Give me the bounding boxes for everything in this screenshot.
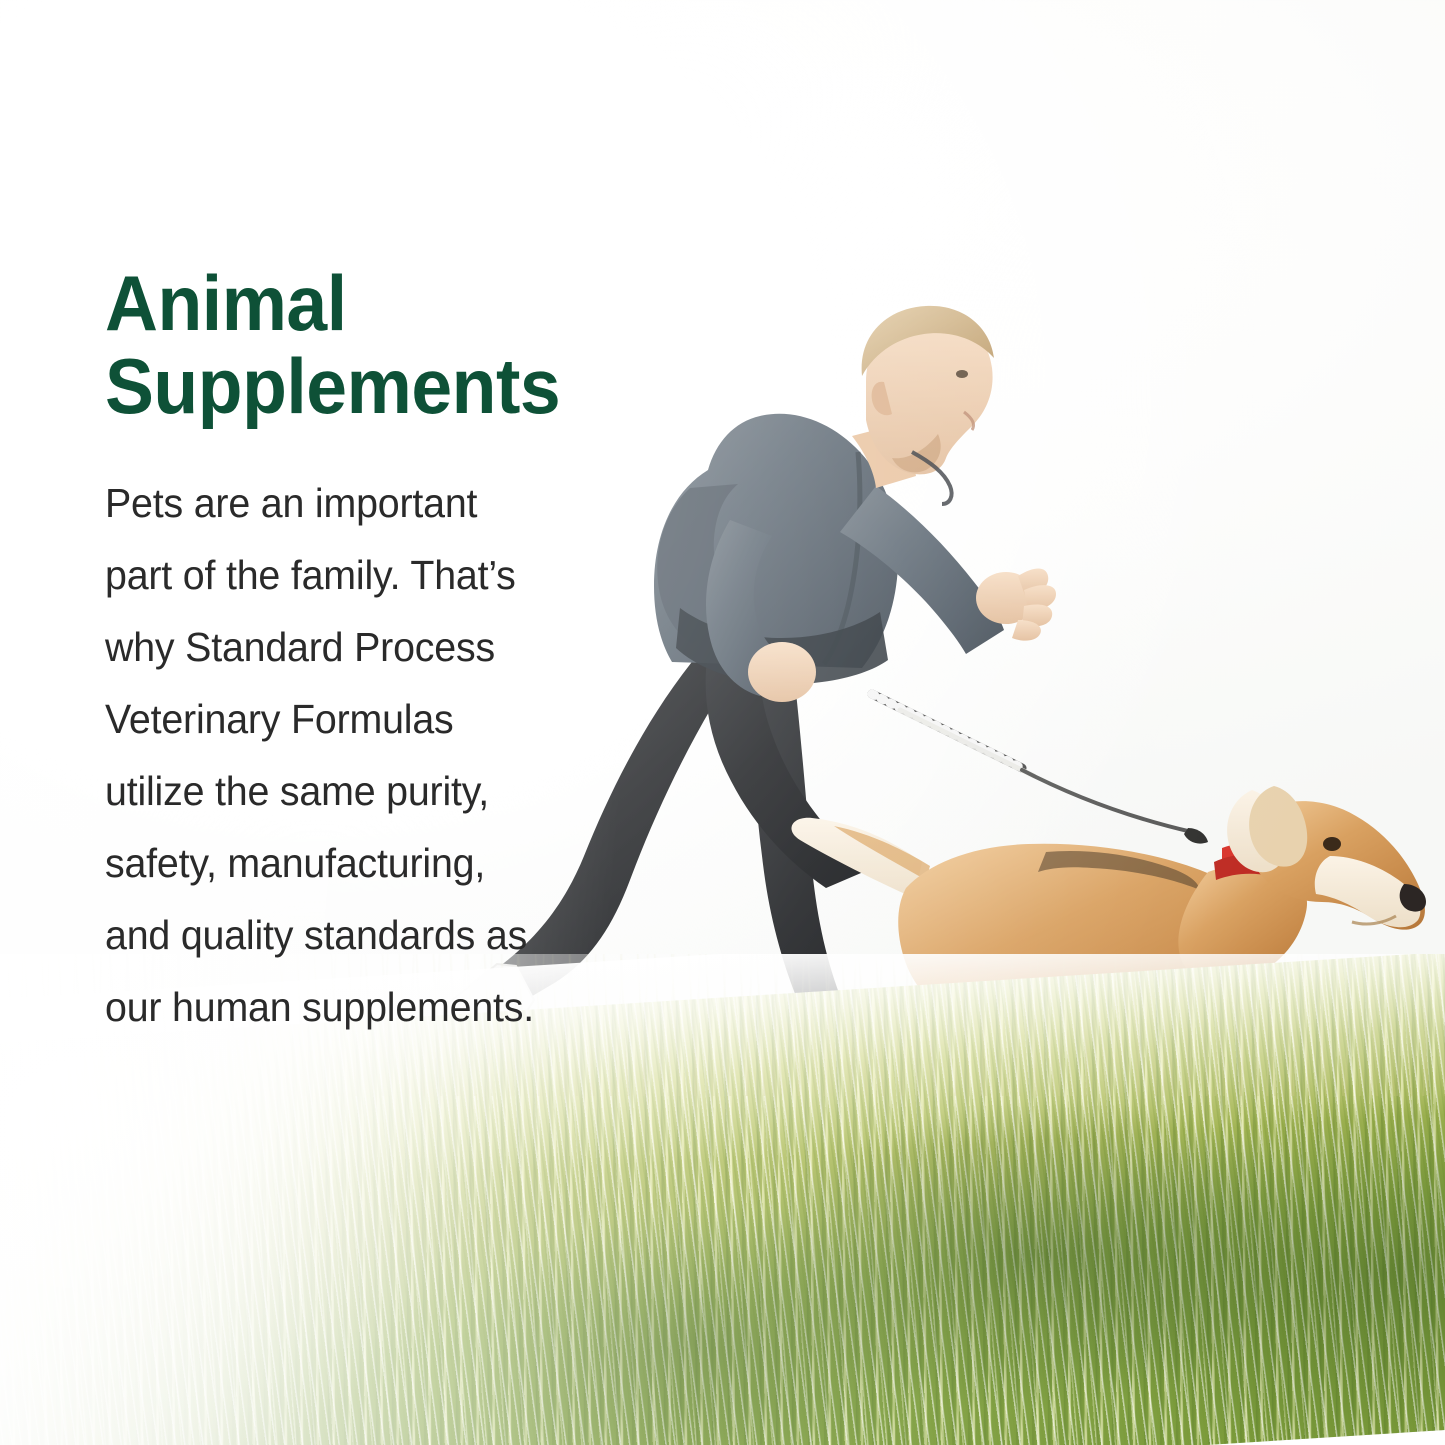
page-title: Animal Supplements [105,262,650,429]
body-paragraph: Pets are an important part of the family… [105,467,662,1043]
text-block: Animal Supplements Pets are an important… [105,262,685,1043]
promo-banner: Animal Supplements Pets are an important… [0,0,1445,1445]
